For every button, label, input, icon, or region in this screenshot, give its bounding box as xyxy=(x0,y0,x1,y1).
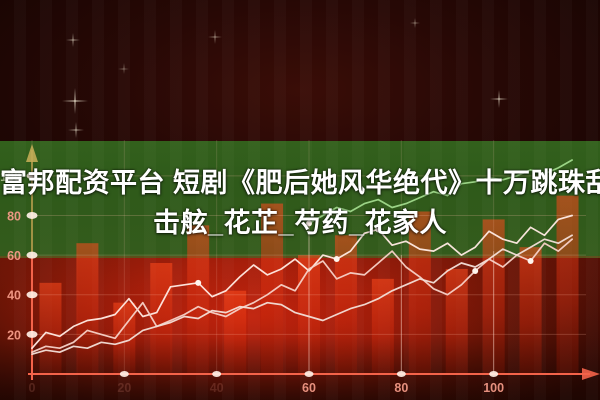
x-axis-tick-label: 20 xyxy=(117,381,131,395)
bar xyxy=(224,291,246,374)
bar xyxy=(520,247,542,374)
data-point-marker xyxy=(528,258,534,264)
arrow-right-icon xyxy=(582,368,600,380)
y-axis-tick-marker xyxy=(27,252,38,259)
x-axis-tick-label: 0 xyxy=(29,381,36,395)
page-title-line-1: 富邦配资平台 短剧《肥后她风华绝代》十万跳珠乱 xyxy=(0,163,600,203)
data-point-marker xyxy=(334,256,340,262)
page-title: 富邦配资平台 短剧《肥后她风华绝代》十万跳珠乱 击舷_花芷_芍药_花家人 xyxy=(0,163,600,243)
x-axis-tick-label: 60 xyxy=(302,381,316,395)
x-axis-tick-marker xyxy=(120,371,129,377)
data-point-marker xyxy=(472,268,478,274)
screenshot-canvas: 20406080100020406080100 富邦配资平台 短剧《肥后她风华绝… xyxy=(0,0,600,400)
y-axis-tick-label: 60 xyxy=(7,249,21,263)
data-point-marker xyxy=(195,280,201,286)
page-title-line-2: 击舷_花芷_芍药_花家人 xyxy=(0,203,600,243)
bar xyxy=(76,243,98,374)
y-axis-tick-label: 40 xyxy=(7,289,21,303)
y-axis-tick-label: 20 xyxy=(7,328,21,342)
arrow-up-icon xyxy=(26,144,38,162)
y-axis-tick-marker xyxy=(27,331,38,338)
bar xyxy=(372,279,394,374)
x-axis-tick-label: 100 xyxy=(483,381,504,395)
bar xyxy=(187,225,209,374)
x-axis-tick-marker xyxy=(212,371,221,377)
x-axis-tick-label: 80 xyxy=(394,381,408,395)
bar xyxy=(446,269,468,374)
y-axis-tick-marker xyxy=(27,291,38,298)
bar xyxy=(150,263,172,374)
x-axis-tick-label: 40 xyxy=(210,381,224,395)
bar xyxy=(39,283,61,374)
bar xyxy=(335,235,357,374)
